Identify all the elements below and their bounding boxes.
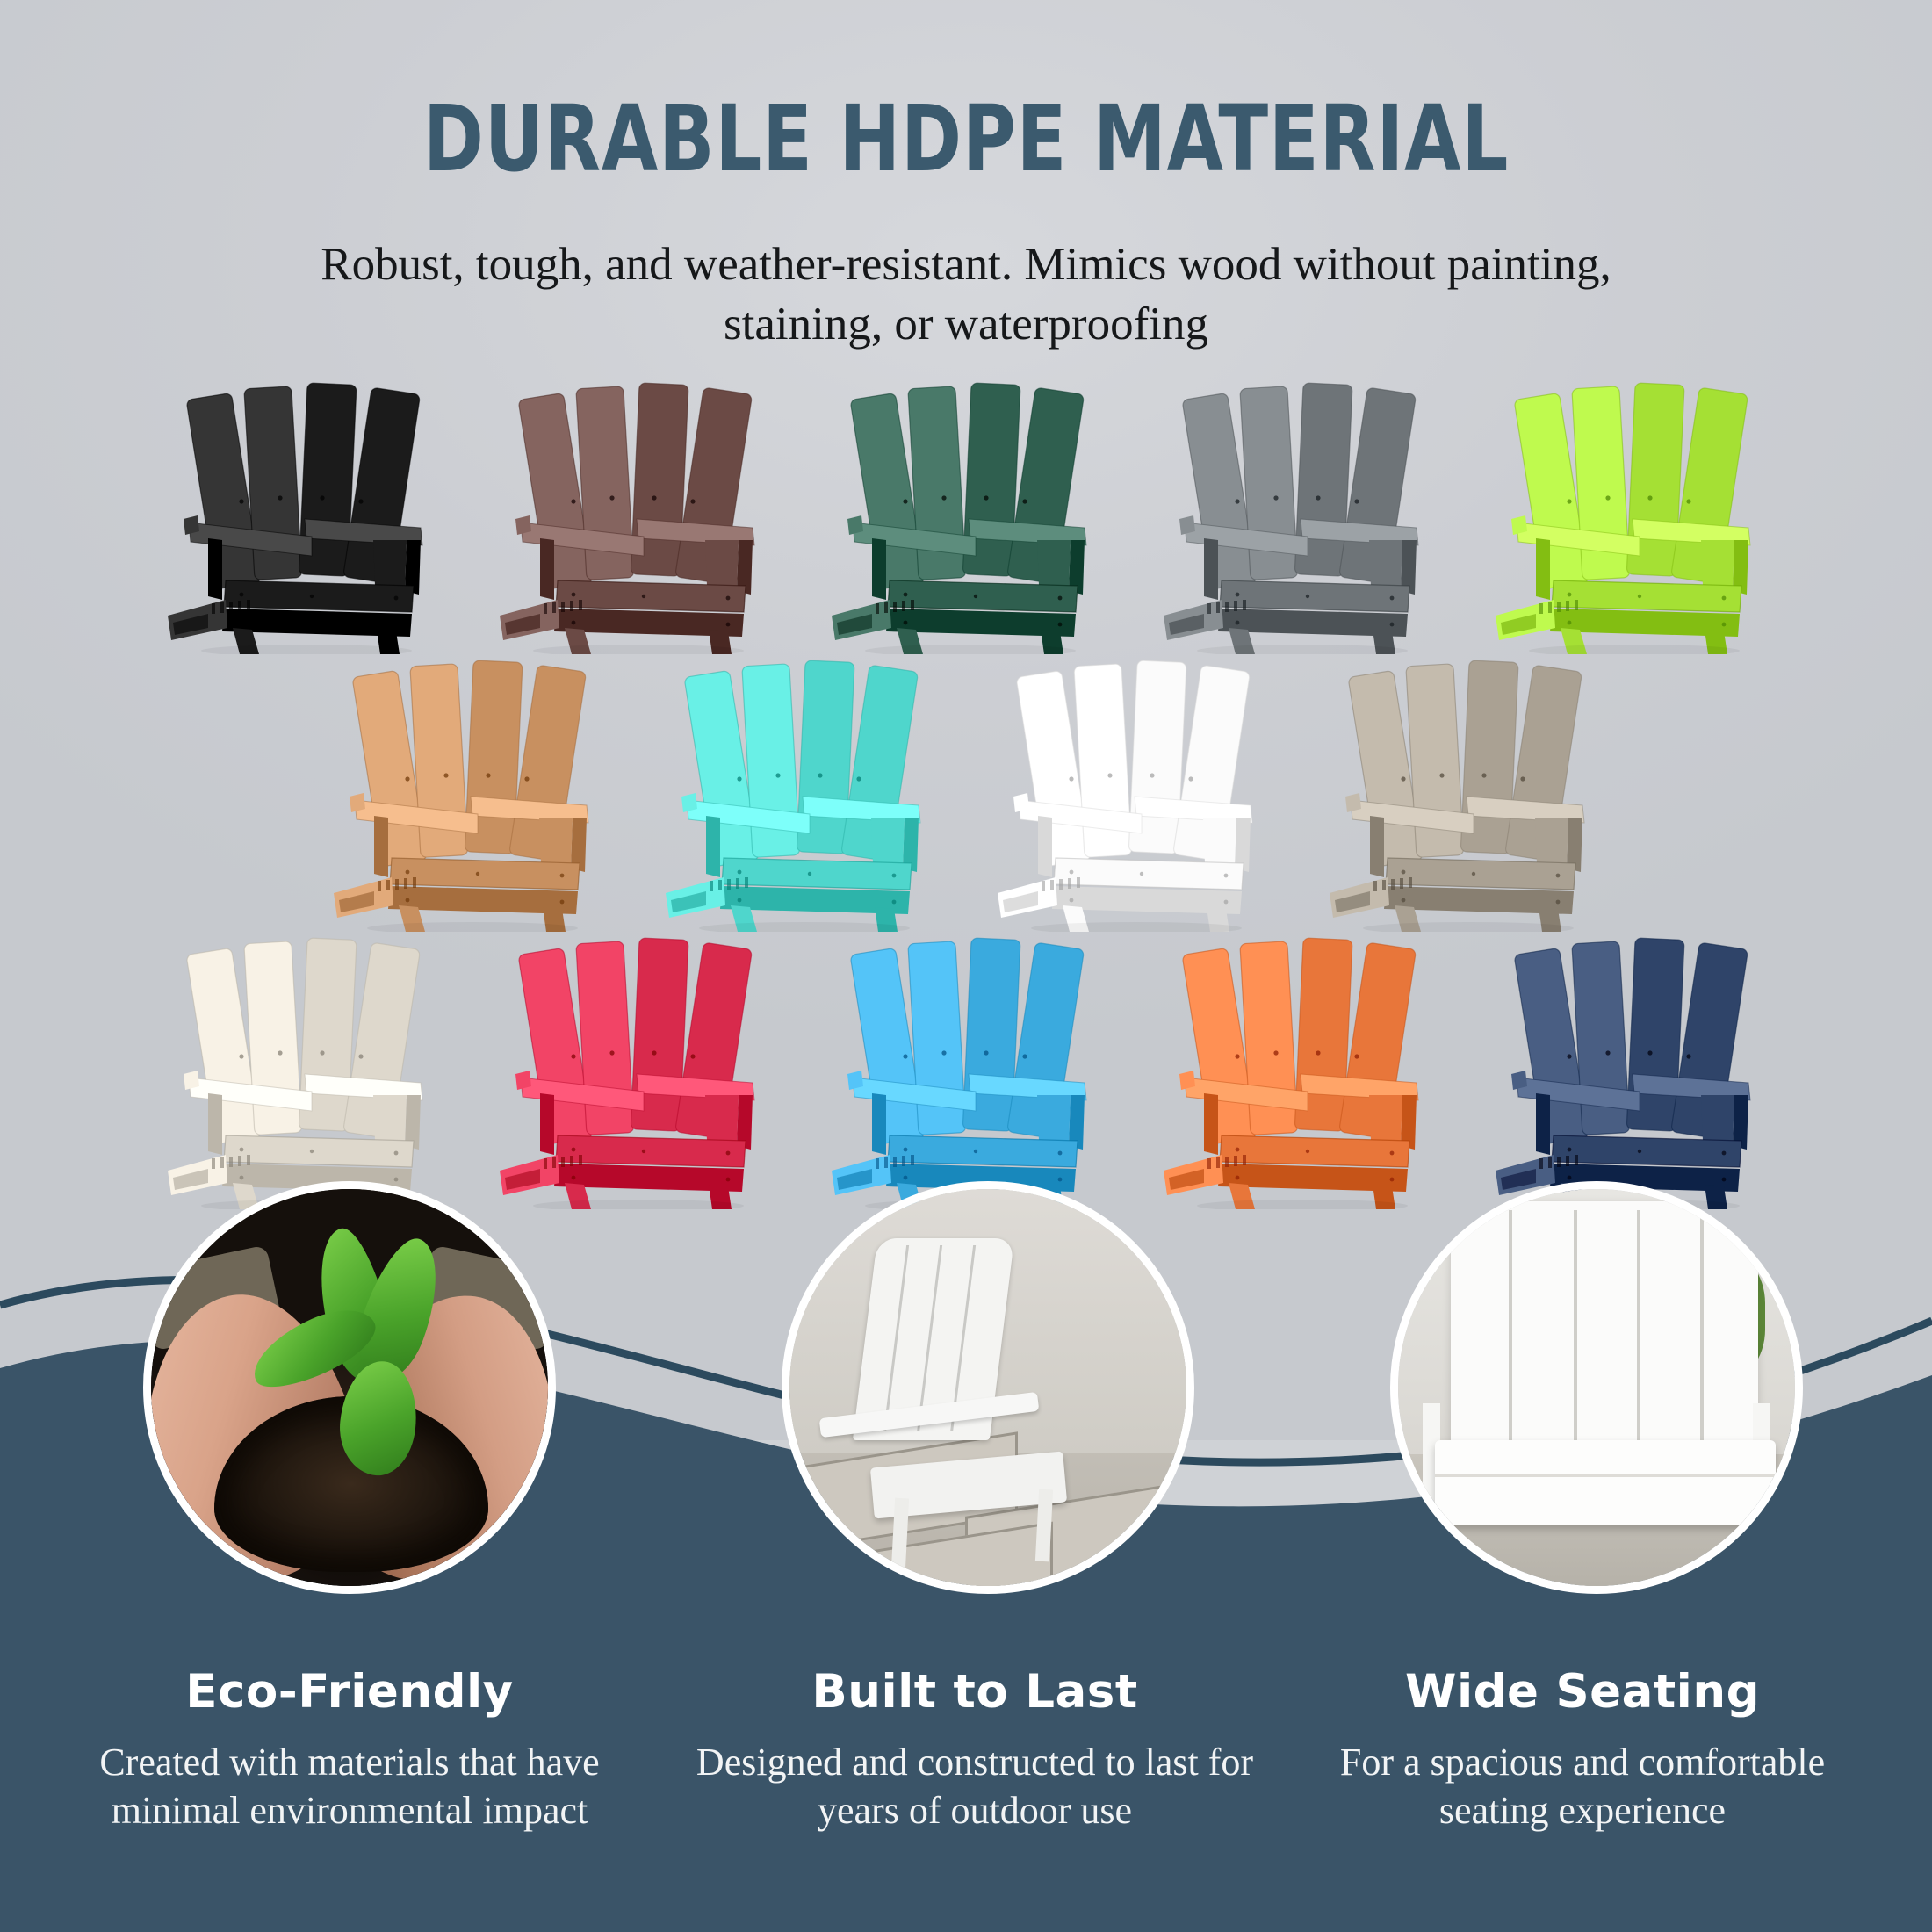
chair-color-grid [0, 364, 1932, 1209]
chair-swatch-dark-brown[interactable] [489, 364, 779, 654]
chair-swatch-orange[interactable] [1153, 919, 1443, 1209]
page-subtitle: Robust, tough, and weather-resistant. Mi… [281, 235, 1651, 355]
adirondack-chair-icon [1153, 364, 1443, 654]
adirondack-chair-icon [489, 364, 779, 654]
feature-body: Created with materials that have minimal… [60, 1738, 639, 1835]
chair-swatch-white[interactable] [987, 642, 1277, 932]
adirondack-chair-icon [323, 642, 613, 932]
chair-back-fan [1451, 1201, 1758, 1447]
adirondack-chair-icon [489, 919, 779, 1209]
adirondack-chair-icon [1153, 919, 1443, 1209]
adirondack-chair-icon [1319, 642, 1609, 932]
feature-photo-wide-seating [1390, 1181, 1803, 1594]
chair-swatch-gray[interactable] [1153, 364, 1443, 654]
feature-title: Built to Last [685, 1665, 1265, 1719]
chair-wide-seat [1435, 1440, 1776, 1525]
chair-swatch-turquoise[interactable] [655, 642, 945, 932]
feature-body: Designed and constructed to last for yea… [685, 1738, 1265, 1835]
feature-photo-eco-friendly [143, 1181, 556, 1594]
adirondack-chair-icon [157, 919, 447, 1209]
adirondack-chair-icon [655, 642, 945, 932]
white-chair [819, 1238, 1083, 1537]
chair-swatch-dark-green[interactable] [821, 364, 1111, 654]
adirondack-chair-icon [1485, 919, 1775, 1209]
chair-row-3 [0, 919, 1932, 1209]
adirondack-chair-icon [1485, 364, 1775, 654]
feature-caption-wide-seating: Wide Seating For a spacious and comforta… [1293, 1665, 1872, 1835]
soil-seedling-photo [151, 1189, 548, 1586]
feature-title: Wide Seating [1293, 1665, 1872, 1719]
adirondack-chair-icon [821, 919, 1111, 1209]
wide-seat-photo [1398, 1189, 1795, 1586]
chair-swatch-navy-blue[interactable] [1485, 919, 1775, 1209]
adirondack-chair-icon [821, 364, 1111, 654]
chair-swatch-teak[interactable] [323, 642, 613, 932]
chair-swatch-ivory[interactable] [157, 919, 447, 1209]
feature-body: For a spacious and comfortable seating e… [1293, 1738, 1872, 1835]
adirondack-chair-icon [987, 642, 1277, 932]
chair-row-2 [0, 642, 1932, 932]
patio-chair-photo [789, 1189, 1186, 1586]
chair-swatch-light-blue[interactable] [821, 919, 1111, 1209]
chair-swatch-lime-green[interactable] [1485, 364, 1775, 654]
chair-swatch-taupe[interactable] [1319, 642, 1609, 932]
chair-swatch-black[interactable] [157, 364, 447, 654]
feature-photo-built-to-last [782, 1181, 1194, 1594]
feature-title: Eco-Friendly [60, 1665, 639, 1719]
chair-row-1 [0, 364, 1932, 654]
feature-caption-built-to-last: Built to Last Designed and constructed t… [685, 1665, 1265, 1835]
page-title: DURABLE HDPE MATERIAL [193, 91, 1739, 187]
feature-caption-eco-friendly: Eco-Friendly Created with materials that… [60, 1665, 639, 1835]
chair-swatch-red[interactable] [489, 919, 779, 1209]
adirondack-chair-icon [157, 364, 447, 654]
